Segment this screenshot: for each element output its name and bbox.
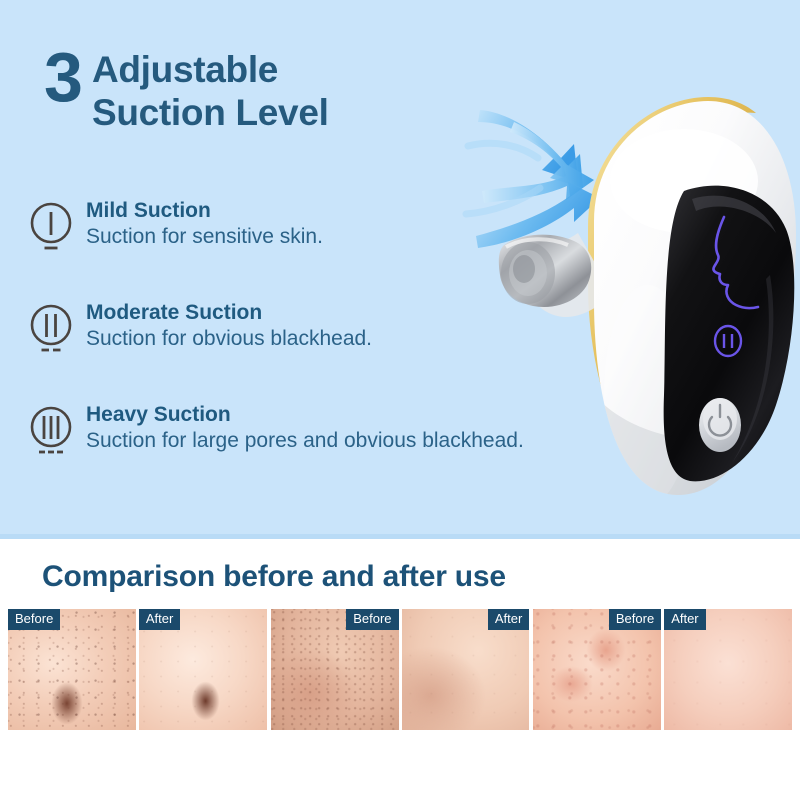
headline-line-1: Adjustable: [92, 48, 329, 91]
after-badge: After: [488, 609, 529, 630]
cheek-large-pores: Before: [271, 609, 399, 730]
suction-level-3-icon: [28, 403, 74, 463]
suction-level-title: Mild Suction: [86, 198, 323, 223]
cheek-smooth-skin: After: [402, 609, 530, 730]
suction-level-1-icon: [28, 199, 74, 259]
suction-level-description: Suction for obvious blackhead.: [86, 325, 372, 352]
suction-level-title: Heavy Suction: [86, 402, 524, 427]
before-badge: Before: [346, 609, 398, 630]
suction-level-2-icon: [28, 301, 74, 361]
comparison-section: Comparison before and after use Before A…: [0, 539, 800, 800]
blackhead-vacuum-remover: [470, 95, 800, 515]
skin-with-bumps: Before: [533, 609, 661, 730]
before-badge: Before: [609, 609, 661, 630]
nose-clear-skin: After: [139, 609, 267, 730]
comparison-photo-strip: Before After Before After Before: [8, 609, 792, 730]
after-badge: After: [139, 609, 180, 630]
suction-level-text: Moderate Suction Suction for obvious bla…: [74, 298, 372, 352]
product-infographic: 3 Adjustable Suction Level Mild Suction: [0, 0, 800, 800]
suction-nozzle: [499, 235, 591, 307]
headline: 3 Adjustable Suction Level: [44, 46, 329, 134]
headline-number: 3: [44, 46, 82, 108]
skin-even-tone: After: [664, 609, 792, 730]
power-button: [699, 398, 741, 452]
nose-with-blackheads: Before: [8, 609, 136, 730]
comparison-pair-3: Before After: [533, 609, 792, 730]
comparison-pair-1: Before After: [8, 609, 267, 730]
before-badge: Before: [8, 609, 60, 630]
suction-level-description: Suction for sensitive skin.: [86, 223, 323, 250]
headline-line-2: Suction Level: [92, 91, 329, 134]
comparison-title: Comparison before and after use: [42, 560, 506, 594]
suction-level-description: Suction for large pores and obvious blac…: [86, 427, 524, 454]
suction-level-title: Moderate Suction: [86, 300, 372, 325]
after-badge: After: [664, 609, 705, 630]
suction-level-text: Mild Suction Suction for sensitive skin.: [74, 196, 323, 250]
suction-level-text: Heavy Suction Suction for large pores an…: [74, 400, 524, 454]
headline-lines: Adjustable Suction Level: [92, 46, 329, 134]
comparison-pair-2: Before After: [271, 609, 530, 730]
suction-level-section: 3 Adjustable Suction Level Mild Suction: [0, 0, 800, 539]
